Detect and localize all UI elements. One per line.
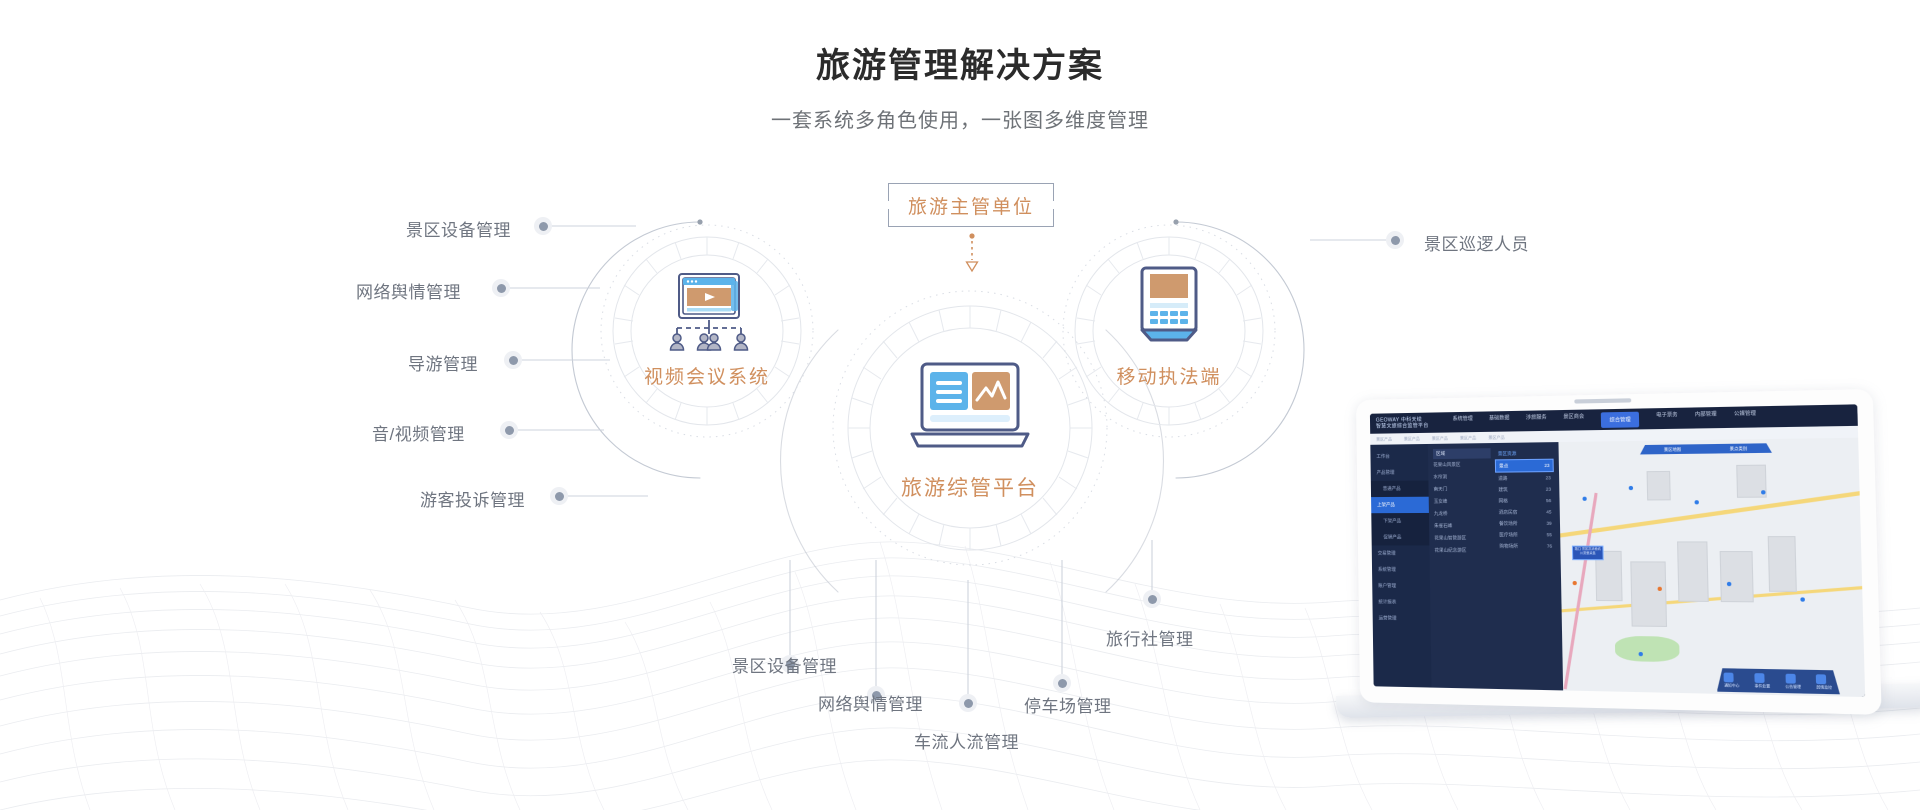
map-marker[interactable] <box>1800 598 1805 602</box>
map-dock[interactable]: 通知中心 事件处置 公告管理 <box>1716 668 1840 694</box>
right-label-0[interactable]: 景区巡逻人员 <box>1424 230 1529 255</box>
sidebar-item-8[interactable]: 账户管理 <box>1372 578 1430 595</box>
map-main-road <box>1558 482 1865 541</box>
resource-label-2: 建筑 <box>1498 486 1507 492</box>
resource-row-1[interactable]: 道路 23 <box>1495 472 1554 484</box>
box-edge-top <box>906 183 1036 184</box>
map-marker[interactable] <box>1629 486 1633 490</box>
map-building <box>1677 541 1708 602</box>
map-marker[interactable] <box>1583 496 1587 500</box>
page-title: 旅游管理解决方案 <box>0 38 1920 87</box>
tree-item-0[interactable]: 花果山风景区 <box>1433 458 1491 471</box>
sidebar-item-2[interactable]: 普通产品 <box>1371 480 1429 497</box>
sidebar-item-7[interactable]: 系统管理 <box>1372 562 1430 578</box>
tab-1[interactable]: 景区产品 <box>1404 436 1420 442</box>
sidebar-item-10[interactable]: 运营管理 <box>1373 610 1431 627</box>
sidebar-item-5[interactable]: 促销产品 <box>1371 529 1429 545</box>
map-building <box>1768 536 1797 593</box>
map-park <box>1614 636 1680 662</box>
node-mobile-enforcement[interactable]: 移动执法端 <box>1060 222 1278 440</box>
menu-item-1[interactable]: 基础数据 <box>1489 414 1510 430</box>
dock-item-0[interactable]: 通知中心 <box>1724 672 1740 688</box>
dashboard-menu[interactable]: 系统管理 基础数据 涉旅服务 景区商会 综合管理 电子票务 内部管理 公媒管理 <box>1453 409 1757 430</box>
left-dot-4[interactable] <box>550 487 568 505</box>
box-edge-bottom <box>906 226 1036 227</box>
gov-unit-box[interactable]: 旅游主管单位 <box>888 183 1054 227</box>
tree-item-1[interactable]: 水帘洞 <box>1433 471 1491 484</box>
bottom-label-0[interactable]: 景区设备管理 <box>732 652 837 677</box>
resource-list-header: 景区资源 <box>1495 447 1554 459</box>
sidebar-item-9[interactable]: 统计报表 <box>1372 594 1430 611</box>
resource-count-2: 23 <box>1546 486 1551 492</box>
resource-label-1: 道路 <box>1498 475 1507 481</box>
logo-line-2: 智慧文旅综合监管平台 <box>1376 423 1429 430</box>
dock-label-1: 事件处置 <box>1755 683 1771 689</box>
gov-unit-label: 旅游主管单位 <box>908 192 1034 219</box>
resource-label-7: 购物场所 <box>1499 543 1518 549</box>
left-dot-0[interactable] <box>534 217 552 235</box>
resource-label-3: 网格 <box>1499 498 1508 504</box>
bottom-label-3[interactable]: 停车场管理 <box>1024 692 1112 717</box>
map-search-option-0[interactable]: 景区地图 <box>1664 446 1681 453</box>
left-label-4[interactable]: 游客投诉管理 <box>420 486 525 511</box>
dashboard-app: GEOWAY 中科天绘 智慧文旅综合监管平台 系统管理 基础数据 涉旅服务 景区… <box>1370 404 1865 697</box>
left-dot-3[interactable] <box>500 421 518 439</box>
resource-row-5[interactable]: 餐饮场所 39 <box>1496 518 1555 530</box>
dock-item-3[interactable]: 舆情监控 <box>1816 674 1832 691</box>
tab-3[interactable]: 景区产品 <box>1460 435 1476 441</box>
menu-item-4[interactable]: 综合管理 <box>1601 411 1639 427</box>
dashboard-logo: GEOWAY 中科天绘 智慧文旅综合监管平台 <box>1376 416 1429 430</box>
left-label-2[interactable]: 导游管理 <box>408 350 478 375</box>
resource-count-1: 23 <box>1546 475 1551 481</box>
dock-icon-monitor <box>1816 674 1826 684</box>
menu-item-7[interactable]: 公媒管理 <box>1734 409 1756 425</box>
bottom-dot-4[interactable] <box>1143 590 1161 608</box>
bottom-label-4[interactable]: 旅行社管理 <box>1106 625 1194 650</box>
laptop-mockup: GEOWAY 中科天绘 智慧文旅综合监管平台 系统管理 基础数据 涉旅服务 景区… <box>1356 400 1896 760</box>
laptop-camera-notch <box>1574 398 1631 403</box>
resource-row-2[interactable]: 建筑 23 <box>1495 483 1554 495</box>
dock-icon-event <box>1754 673 1764 683</box>
bottom-dot-2[interactable] <box>959 694 977 712</box>
node-video-label: 视频会议系统 <box>598 362 816 389</box>
dock-icon-notification <box>1724 672 1734 682</box>
dock-label-0: 通知中心 <box>1724 683 1740 689</box>
menu-item-6[interactable]: 内部管理 <box>1695 410 1717 426</box>
map-search-option-1[interactable]: 景点类别 <box>1730 445 1748 452</box>
map-marker[interactable] <box>1694 501 1698 505</box>
resource-count-6: 55 <box>1547 532 1552 538</box>
map-search-bar[interactable]: 景区地图 景点类别 <box>1640 443 1772 454</box>
map-marker[interactable] <box>1761 490 1766 494</box>
left-dot-1[interactable] <box>492 279 510 297</box>
tree-item-6[interactable]: 花果山智管游区 <box>1434 532 1492 544</box>
menu-item-5[interactable]: 电子票务 <box>1656 410 1678 426</box>
map-view[interactable]: 景区地图 景点类别 路口 景区高清枪机 川流量采集 通知中心 <box>1558 438 1865 697</box>
bottom-label-1[interactable]: 网络舆情管理 <box>818 690 923 715</box>
video-conference-icon <box>657 268 757 354</box>
map-marker-alert[interactable] <box>1573 581 1577 585</box>
dock-item-1[interactable]: 事件处置 <box>1754 673 1770 689</box>
menu-item-2[interactable]: 涉旅服务 <box>1526 413 1547 429</box>
tree-item-4[interactable]: 九龙桥 <box>1434 508 1492 520</box>
map-marker[interactable] <box>1726 582 1730 586</box>
sidebar-item-1[interactable]: 产品管理 <box>1371 464 1429 481</box>
dashboard-body: 工作台 产品管理 普通产品 上架产品 下架产品 促销产品 交易管理 系统管理 账… <box>1370 438 1865 697</box>
page-root: 旅游管理解决方案 一套系统多角色使用，一张图多维度管理 旅游主管单位 <box>0 0 1920 810</box>
left-dot-2[interactable] <box>504 351 522 369</box>
corner-bottom-right <box>1036 209 1054 227</box>
dotted-down-arrow-icon <box>962 233 982 273</box>
tab-2[interactable]: 景区产品 <box>1432 435 1448 441</box>
laptop-screen: GEOWAY 中科天绘 智慧文旅综合监管平台 系统管理 基础数据 涉旅服务 景区… <box>1370 404 1865 697</box>
node-mobile-label: 移动执法端 <box>1060 362 1278 389</box>
corner-bottom-left <box>888 209 906 227</box>
bottom-dot-3[interactable] <box>1053 674 1071 692</box>
map-building <box>1646 471 1670 501</box>
menu-item-3[interactable]: 景区商会 <box>1563 412 1584 428</box>
dock-icon-announcement <box>1785 673 1795 683</box>
dock-item-2[interactable]: 公告管理 <box>1785 673 1801 690</box>
resource-row-4[interactable]: 酒店民宿 45 <box>1496 506 1555 518</box>
laptop-dashboard-icon <box>908 360 1032 456</box>
resource-label-5: 餐饮场所 <box>1499 520 1518 526</box>
map-building <box>1720 551 1755 602</box>
region-tree-header: 区域 <box>1433 448 1491 459</box>
resource-label-6: 医疗场所 <box>1499 532 1518 538</box>
resource-count-7: 76 <box>1547 543 1552 549</box>
left-label-1[interactable]: 网络舆情管理 <box>356 278 461 303</box>
handheld-terminal-icon <box>1138 264 1200 354</box>
map-metro-line <box>1563 493 1597 690</box>
dock-label-3: 舆情监控 <box>1816 685 1832 691</box>
left-label-3[interactable]: 音/视频管理 <box>372 420 465 445</box>
region-tree[interactable]: 区域 花果山风景区 水帘洞 南天门 玉女峰 九龙桥 朱雀石峰 花果山智管游区 花… <box>1433 448 1495 684</box>
map-tooltip: 路口 景区高清枪机 川流量采集 <box>1572 546 1604 561</box>
resource-count-4: 45 <box>1546 509 1551 515</box>
resource-row-0[interactable]: 景点 23 <box>1495 459 1554 473</box>
map-building <box>1631 561 1668 627</box>
map-marker-alert[interactable] <box>1658 586 1662 590</box>
left-label-0[interactable]: 景区设备管理 <box>406 216 511 241</box>
laptop-frame: GEOWAY 中科天绘 智慧文旅综合监管平台 系统管理 基础数据 涉旅服务 景区… <box>1356 389 1882 715</box>
resource-label-0: 景点 <box>1499 463 1508 469</box>
tree-item-7[interactable]: 花果山纪念游区 <box>1434 544 1492 556</box>
dashboard-sidebar[interactable]: 工作台 产品管理 普通产品 上架产品 下架产品 促销产品 交易管理 系统管理 账… <box>1370 444 1431 688</box>
node-video-conference[interactable]: 视频会议系统 <box>598 222 816 440</box>
resource-count-5: 39 <box>1546 520 1551 526</box>
sidebar-item-0[interactable]: 工作台 <box>1370 448 1428 465</box>
resource-label-4: 酒店民宿 <box>1499 509 1518 515</box>
tree-item-2[interactable]: 南天门 <box>1433 483 1491 496</box>
resource-row-6[interactable]: 医疗场所 55 <box>1496 529 1555 540</box>
right-dot-0[interactable] <box>1386 231 1404 249</box>
tab-0[interactable]: 景区产品 <box>1376 436 1392 442</box>
menu-item-0[interactable]: 系统管理 <box>1453 414 1473 430</box>
sidebar-item-3[interactable]: 上架产品 <box>1371 497 1429 513</box>
resource-count-3: 56 <box>1546 497 1551 503</box>
corner-top-left <box>888 183 906 201</box>
node-platform-label: 旅游综管平台 <box>830 472 1110 502</box>
page-subtitle: 一套系统多角色使用，一张图多维度管理 <box>0 104 1920 133</box>
sidebar-item-4[interactable]: 下架产品 <box>1371 513 1429 529</box>
tree-item-5[interactable]: 朱雀石峰 <box>1434 520 1492 532</box>
corner-top-right <box>1036 183 1054 201</box>
bottom-label-2[interactable]: 车流人流管理 <box>914 728 1019 753</box>
resource-count-0: 23 <box>1544 462 1549 468</box>
resource-row-3[interactable]: 网格 56 <box>1495 495 1554 507</box>
resource-row-7[interactable]: 购物场所 76 <box>1496 540 1555 551</box>
dock-label-2: 公告管理 <box>1785 684 1801 690</box>
tab-4[interactable]: 景区产品 <box>1488 434 1504 440</box>
resource-list[interactable]: 景区资源 景点 23 道路 23 建筑 <box>1495 447 1558 685</box>
sidebar-item-6[interactable]: 交易管理 <box>1372 545 1430 561</box>
tree-item-3[interactable]: 玉女峰 <box>1434 495 1492 508</box>
dashboard-panel: 区域 花果山风景区 水帘洞 南天门 玉女峰 九龙桥 朱雀石峰 花果山智管游区 花… <box>1428 442 1563 690</box>
map-marker[interactable] <box>1638 652 1642 656</box>
